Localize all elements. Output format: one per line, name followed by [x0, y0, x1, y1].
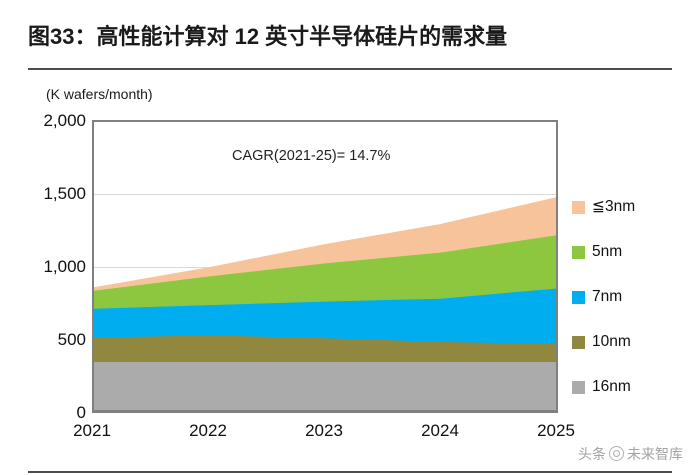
y-tick-1000: 1,000 — [10, 258, 86, 275]
legend-swatch-7nm-icon — [572, 291, 585, 304]
watermark-at-icon — [609, 446, 624, 461]
legend-label-5nm: 5nm — [592, 244, 622, 260]
y-axis-tick-labels: 2,000 1,500 1,000 500 0 — [4, 0, 86, 475]
chart-plot-inner — [94, 122, 556, 410]
y-tick-0: 0 — [10, 404, 86, 421]
figure-root: 图33：高性能计算对 12 英寸半导体硅片的需求量 (K wafers/mont… — [0, 0, 700, 475]
legend-item-10nm: 10nm — [572, 331, 696, 353]
x-tick-2022: 2022 — [173, 421, 243, 441]
chart-legend: ≦3nm 5nm 7nm 10nm 16nm — [572, 196, 696, 421]
legend-item-16nm: 16nm — [572, 376, 696, 398]
legend-label-le3nm: ≦3nm — [592, 199, 635, 215]
y-tick-2000: 2,000 — [10, 112, 86, 129]
legend-swatch-5nm-icon — [572, 246, 585, 259]
legend-label-10nm: 10nm — [592, 334, 631, 350]
legend-item-le3nm: ≦3nm — [572, 196, 696, 218]
x-tick-2025: 2025 — [521, 421, 591, 441]
y-tick-1500: 1,500 — [10, 185, 86, 202]
area-series-16nm — [94, 362, 556, 410]
legend-item-7nm: 7nm — [572, 286, 696, 308]
x-tick-2023: 2023 — [289, 421, 359, 441]
legend-item-5nm: 5nm — [572, 241, 696, 263]
bottom-divider — [28, 471, 672, 473]
legend-label-16nm: 16nm — [592, 379, 631, 395]
watermark-source-right: 未来智库 — [627, 447, 683, 463]
legend-swatch-16nm-icon — [572, 381, 585, 394]
legend-label-7nm: 7nm — [592, 289, 622, 305]
page-title: 图33：高性能计算对 12 英寸半导体硅片的需求量 — [28, 22, 672, 52]
legend-swatch-le3nm-icon — [572, 201, 585, 214]
y-tick-500: 500 — [10, 331, 86, 348]
title-divider — [28, 68, 672, 70]
stacked-area-chart — [94, 122, 556, 410]
watermark: 头条未来智库 — [578, 444, 683, 464]
x-tick-2024: 2024 — [405, 421, 475, 441]
watermark-source-left: 头条 — [578, 447, 606, 463]
legend-swatch-10nm-icon — [572, 336, 585, 349]
figure-title-wrap: 图33：高性能计算对 12 英寸半导体硅片的需求量 — [28, 22, 672, 52]
x-tick-2021: 2021 — [57, 421, 127, 441]
cagr-annotation: CAGR(2021-25)= 14.7% — [232, 148, 390, 164]
